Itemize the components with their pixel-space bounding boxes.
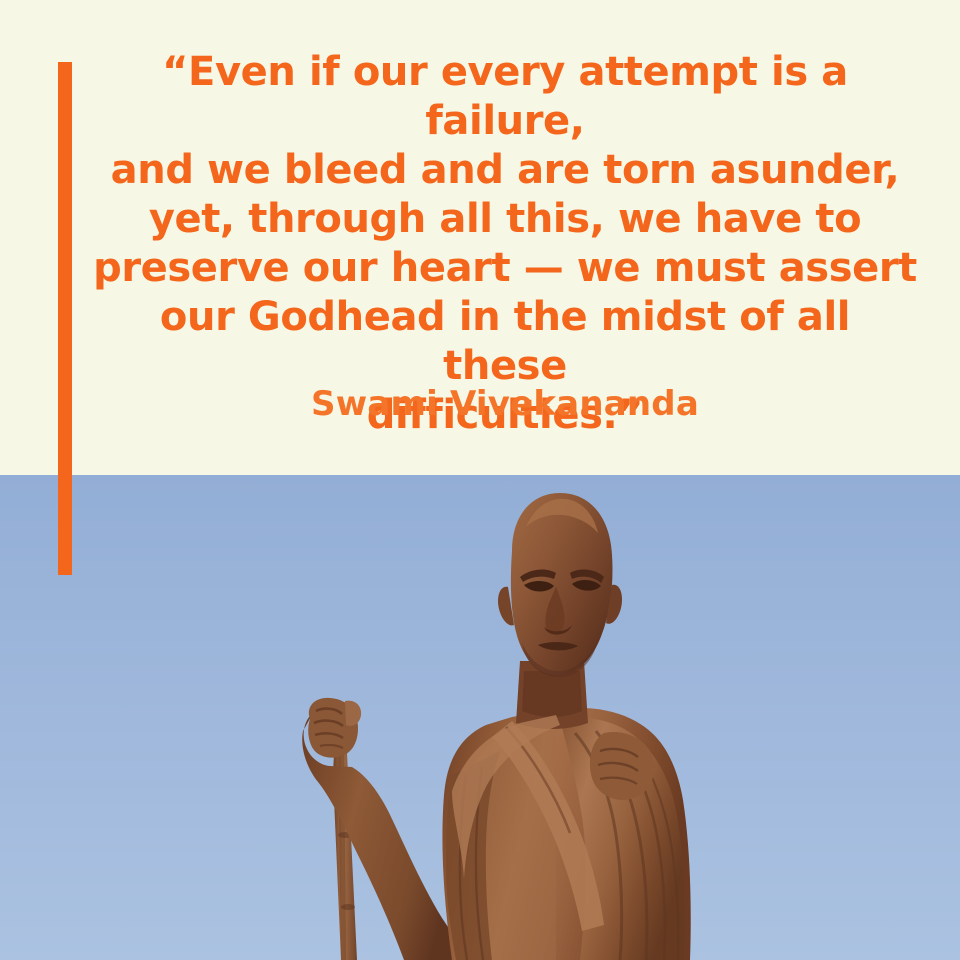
quote-attribution: Swami Vivekananda xyxy=(92,383,918,425)
statue-photo xyxy=(0,475,960,960)
statue-illustration xyxy=(0,475,960,960)
quote-card: “Even if our every attempt is a failure,… xyxy=(0,0,960,960)
quote-text: “Even if our every attempt is a failure,… xyxy=(92,48,918,440)
accent-bar xyxy=(58,62,72,575)
